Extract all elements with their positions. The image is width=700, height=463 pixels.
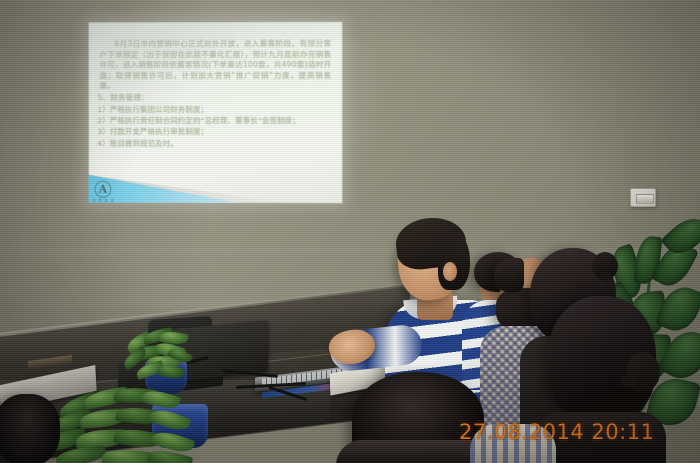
speaker-hair-side — [438, 232, 470, 290]
photograph: 6月3日市内营销中心正式对外开放，进入蓄客阶段。有部分客户下单预定（出于保密在此… — [0, 0, 700, 463]
wall-switch-plate-icon — [630, 188, 656, 207]
blue-plant-pot-lower — [152, 404, 208, 448]
blue-plant-pot-upper — [145, 360, 187, 394]
slide-bullet-3: 3）付款开支严格执行审批制度； — [97, 126, 333, 138]
slide-bullet-4: 4）账目做到规范及时。 — [97, 138, 333, 150]
slide-bullet-2: 2）严格执行责任制合同约定的“总经理、董事长”会签制度； — [97, 115, 333, 126]
slide-content: 6月3日市内营销中心正式对外开放，进入蓄客阶段。有部分客户下单预定（出于保密在此… — [89, 22, 343, 204]
projected-slide: 6月3日市内营销中心正式对外开放，进入蓄客阶段。有部分客户下单预定（出于保密在此… — [89, 22, 343, 204]
camera-timestamp: 27.08.2014 20:11 — [459, 420, 654, 444]
slide-bullet-1: 1）严格执行集团公司财务制度； — [97, 104, 333, 115]
logo-subtext: 安 厦 集 团 — [92, 198, 114, 203]
logo-glyph: A — [99, 184, 107, 195]
slide-paragraph: 6月3日市内营销中心正式对外开放，进入蓄客阶段。有部分客户下单预定（出于保密在此… — [97, 39, 333, 92]
slide-section-heading: 5、财务管理： — [97, 92, 333, 104]
speaker-ear — [443, 262, 457, 281]
company-logo-icon: A — [94, 181, 111, 198]
